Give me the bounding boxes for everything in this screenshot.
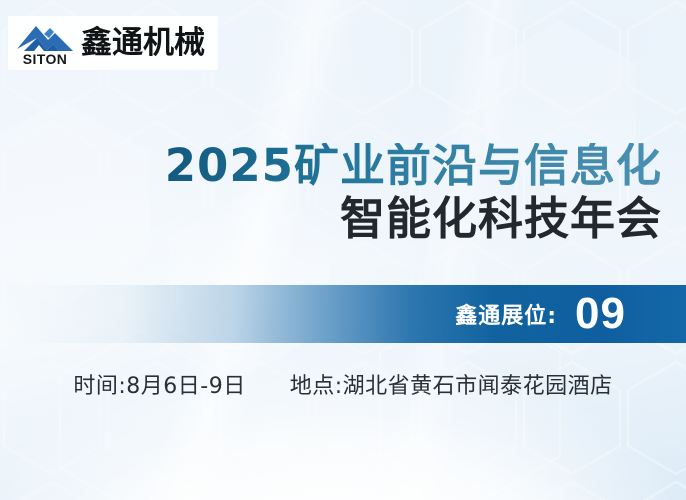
- event-details: 时间:8月6日-9日 地点:湖北省黄石市闻泰花园酒店: [0, 368, 686, 400]
- bottom-glow-overlay: [0, 330, 686, 500]
- booth-label: 鑫通展位:: [455, 298, 557, 330]
- event-venue: 地点:湖北省黄石市闻泰花园酒店: [290, 368, 613, 400]
- booth-banner: 鑫通展位: 09: [0, 285, 686, 343]
- headline-line-1: 2025矿业前沿与信息化: [165, 143, 662, 190]
- brand-logo: SITON 鑫通机械: [8, 16, 218, 70]
- brand-name-cn: 鑫通机械: [81, 28, 205, 59]
- page-title: 2025矿业前沿与信息化 智能化科技年会: [165, 143, 662, 243]
- hexagon-pattern-background: [0, 0, 686, 500]
- svg-text:SITON: SITON: [23, 51, 68, 66]
- booth-number: 09: [575, 292, 626, 336]
- event-date: 时间:8月6日-9日: [73, 368, 245, 400]
- headline-line-2: 智能化科技年会: [165, 196, 662, 243]
- mountain-peak-icon: SITON: [14, 20, 76, 66]
- light-streak-overlay: [0, 0, 686, 500]
- poster-canvas: SITON 鑫通机械 2025矿业前沿与信息化 智能化科技年会 鑫通展位: 09…: [0, 0, 686, 500]
